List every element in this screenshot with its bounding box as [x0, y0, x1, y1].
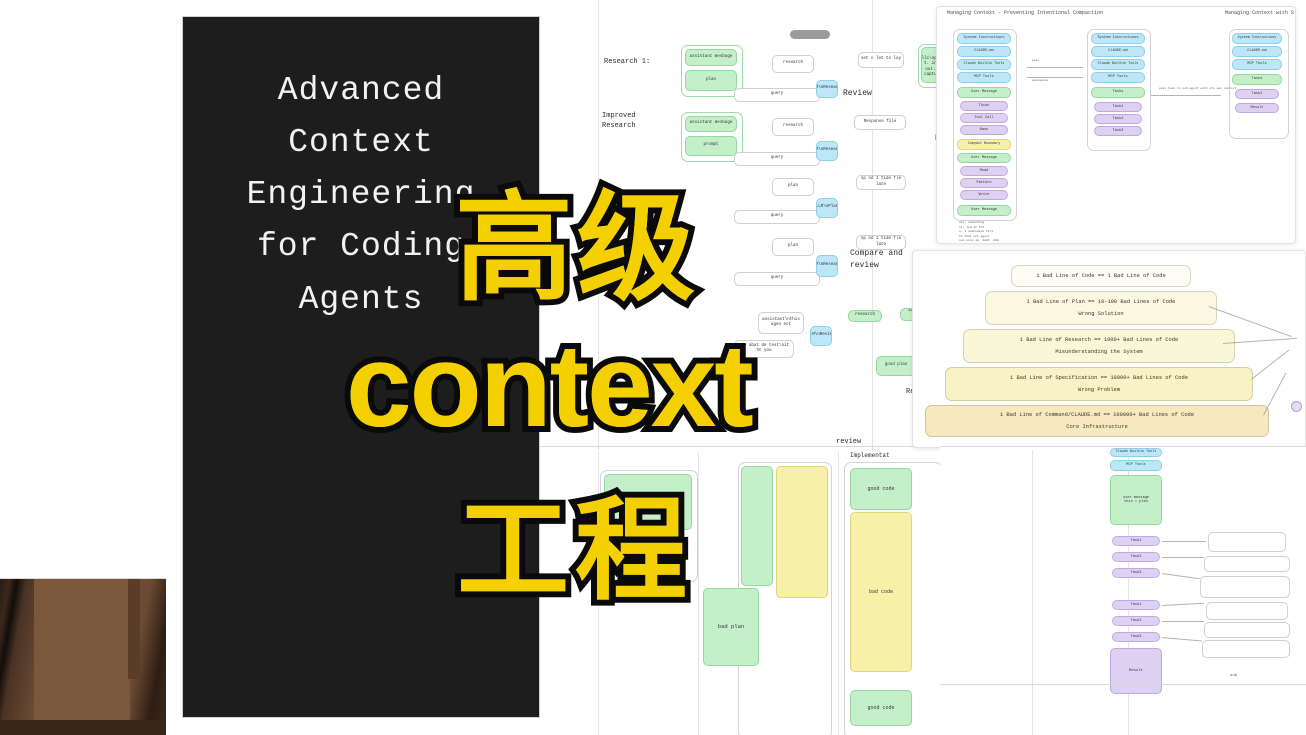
panel-title-managing-context: Managing Context - Preventing Intentiona…: [947, 10, 1103, 16]
label-review-2: review: [836, 438, 861, 446]
label-review-1: Review: [843, 89, 872, 98]
node-good-code-1: good code: [850, 468, 912, 510]
webcam-inset: [0, 578, 166, 735]
node-mcp-tools: MCP Tools: [1110, 460, 1162, 471]
pyramid-row-2: 1 Bad Line of Research == 1000+ Bad Line…: [963, 329, 1235, 363]
node-bad-code: bad code: [850, 512, 912, 672]
pyramid-row-3: 1 Bad Line of Specification == 10000+ Ba…: [945, 367, 1253, 401]
label-research-1: Research 1:: [604, 58, 650, 66]
pyramid-row-0: 1 Bad Line of Code == 1 Bad Line of Code: [1011, 265, 1191, 287]
label-improved-research: Improved Research: [602, 111, 636, 131]
label-sub: sub: [1230, 674, 1237, 678]
pyramid-row-4: 1 Bad Line of Command/CLAUDE.md == 10000…: [925, 405, 1269, 437]
video-frame: Research 1: assistant mesbage plan resea…: [0, 0, 1306, 735]
label-implementat: Implementat: [850, 452, 890, 459]
overlay-caption-line1: 高级: [455, 152, 699, 323]
bad-lines-pyramid-panel: 1 Bad Line of Code == 1 Bad Line of Code…: [912, 250, 1306, 448]
scrollbar-handle[interactable]: [790, 30, 830, 39]
managing-context-panel: Managing Context - Preventing Intentiona…: [936, 6, 1296, 244]
node-good-code-2: good code: [850, 690, 912, 726]
pyramid-row-1: 1 Bad Line of Plan == 10-100 Bad Lines o…: [985, 291, 1217, 325]
title-card-text: Advanced Context Engineering for Coding …: [247, 65, 476, 326]
label-compare-and-review: Compare and review: [850, 248, 903, 272]
webcam-door-jamb: [128, 579, 140, 679]
webcam-floor: [0, 720, 166, 735]
panel-title-managing-context-subagents: Managing Context with S: [1225, 10, 1294, 16]
overlay-caption-line2: context: [346, 318, 752, 454]
subagent-tasks-panel: Claude Builtin Tools MCP Tools user mess…: [940, 446, 1306, 735]
webcam-door: [34, 579, 130, 735]
node-bad-plan: bad plan: [703, 588, 759, 666]
overlay-caption-line3: 工程: [457, 460, 693, 622]
